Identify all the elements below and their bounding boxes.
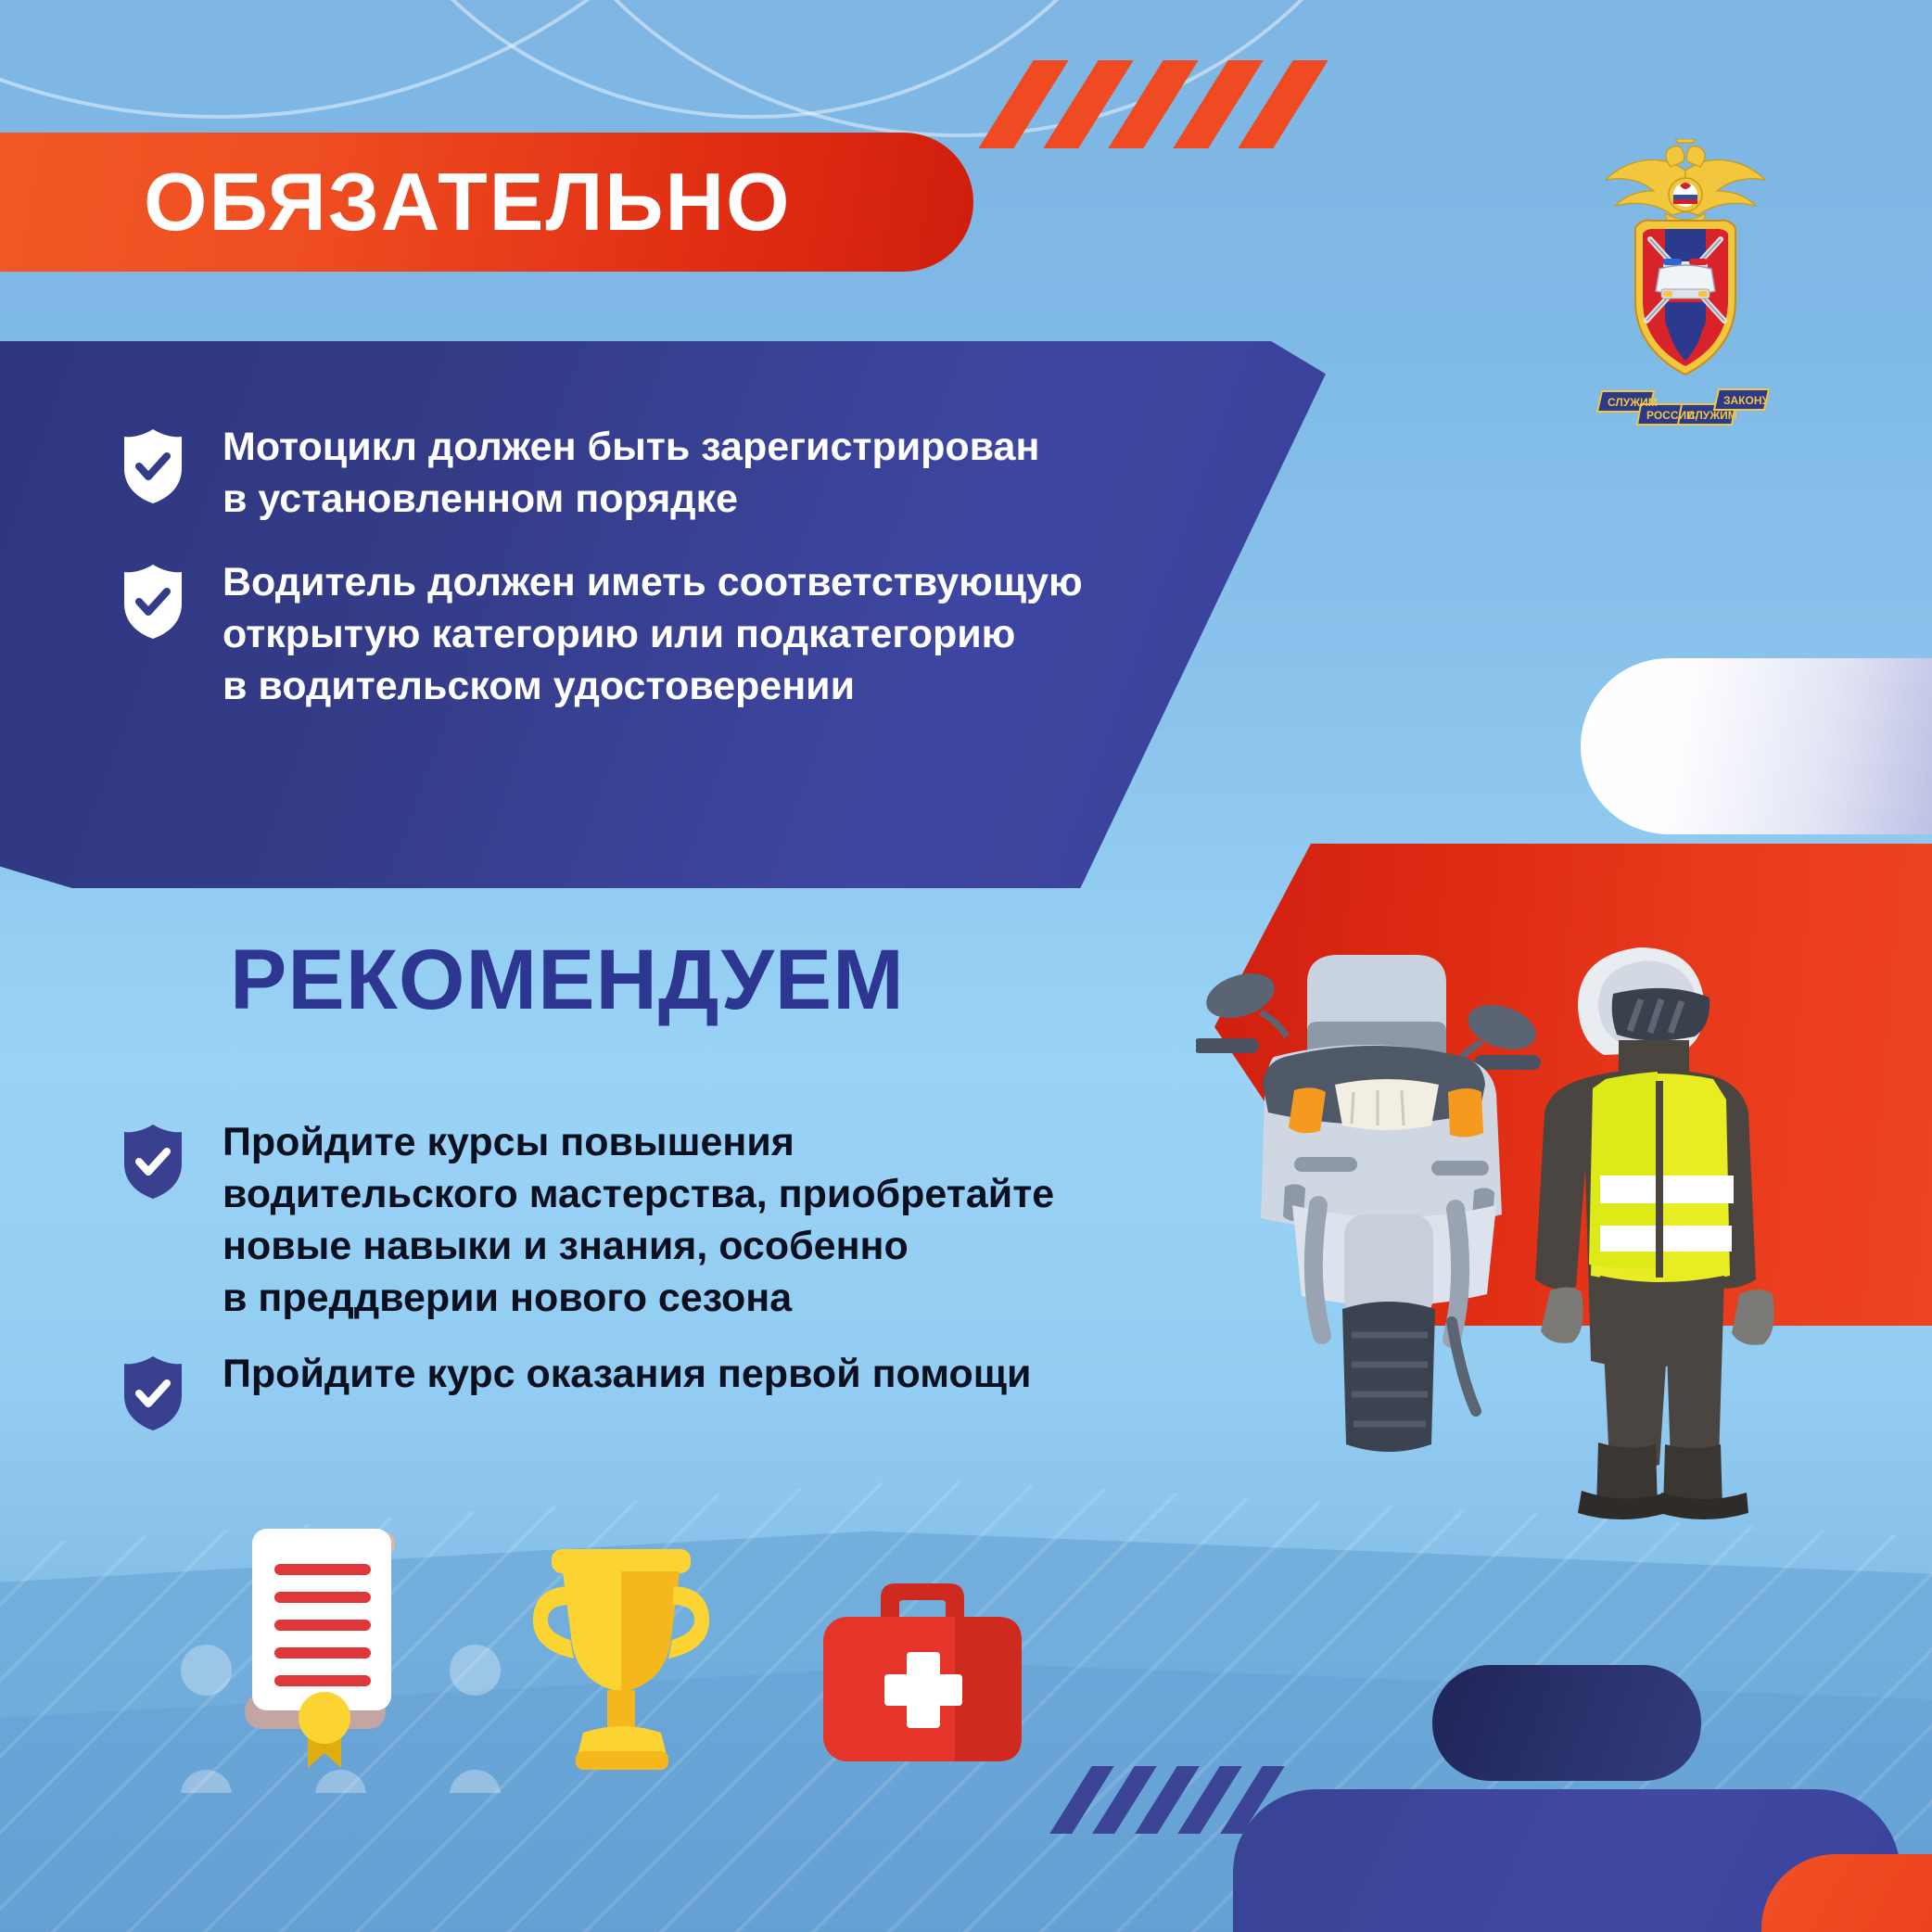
motto-word: ЗАКОНУ xyxy=(1723,394,1770,407)
mandatory-list: Мотоцикл должен быть зарегистрирован в у… xyxy=(121,422,1187,744)
line: водительского мастерства, приобретайте xyxy=(222,1172,1054,1216)
line: в установленном порядке xyxy=(222,477,738,521)
line: в водительском удостоверении xyxy=(222,664,855,708)
recommended-title: РЕКОМЕНДУЕМ xyxy=(230,932,905,1029)
motto-ribbon: СЛУЖИМ РОССИИ, СЛУЖИМ ЗАКОНУ xyxy=(1597,389,1770,425)
certificate-icon xyxy=(232,1525,426,1780)
infographic-poster: ОБЯЗАТЕЛЬНО xyxy=(0,0,1932,1932)
line: Пройдите курсы повышения xyxy=(222,1120,794,1164)
list-item: Пройдите курсы повышения водительского м… xyxy=(121,1117,1233,1325)
decorative-stripes-top xyxy=(1006,60,1330,148)
first-aid-kit-icon xyxy=(816,1576,1029,1780)
banner-title: ОБЯЗАТЕЛЬНО xyxy=(144,155,792,249)
line: Пройдите курс оказания первой помощи xyxy=(222,1352,1031,1396)
shield-check-icon xyxy=(121,1123,185,1205)
motto-word: СЛУЖИМ xyxy=(1687,409,1737,422)
line: Мотоцикл должен быть зарегистрирован xyxy=(222,425,1039,469)
list-item-text: Пройдите курс оказания первой помощи xyxy=(222,1349,1031,1401)
list-item: Пройдите курс оказания первой помощи xyxy=(121,1349,1233,1437)
trophy-icon xyxy=(515,1544,728,1780)
line: Водитель должен иметь соответствующую xyxy=(222,560,1083,604)
motto-word: СЛУЖИМ xyxy=(1608,396,1658,409)
benefit-icons-row xyxy=(232,1525,1029,1780)
line: открытую категорию или подкатегорию xyxy=(222,612,1015,656)
coat-of-arms-icon: СЛУЖИМ РОССИИ, СЛУЖИМ ЗАКОНУ xyxy=(1593,139,1778,436)
line: в преддверии нового сезона xyxy=(222,1276,792,1320)
shield-check-icon xyxy=(121,1354,185,1437)
gibdd-emblem: СЛУЖИМ РОССИИ, СЛУЖИМ ЗАКОНУ xyxy=(1593,139,1778,436)
rider-icon xyxy=(1535,947,1774,1519)
recommended-list: Пройдите курсы повышения водительского м… xyxy=(121,1117,1233,1461)
motorcycle-icon xyxy=(1196,955,1542,1452)
motorcycle-rider-illustration xyxy=(1196,927,1845,1557)
line: новые навыки и знания, особенно xyxy=(222,1224,909,1268)
decorative-navy-pill xyxy=(1432,1665,1701,1781)
list-item: Мотоцикл должен быть зарегистрирован в у… xyxy=(121,422,1187,526)
mandatory-banner: ОБЯЗАТЕЛЬНО xyxy=(0,133,973,272)
list-item-text: Мотоцикл должен быть зарегистрирован в у… xyxy=(222,422,1039,526)
shield-check-icon xyxy=(121,563,185,645)
shield-check-icon xyxy=(121,427,185,510)
list-item: Водитель должен иметь соответствующую от… xyxy=(121,557,1187,713)
decorative-white-blob xyxy=(1581,658,1932,834)
list-item-text: Водитель должен иметь соответствующую от… xyxy=(222,557,1083,713)
list-item-text: Пройдите курсы повышения водительского м… xyxy=(222,1117,1054,1325)
